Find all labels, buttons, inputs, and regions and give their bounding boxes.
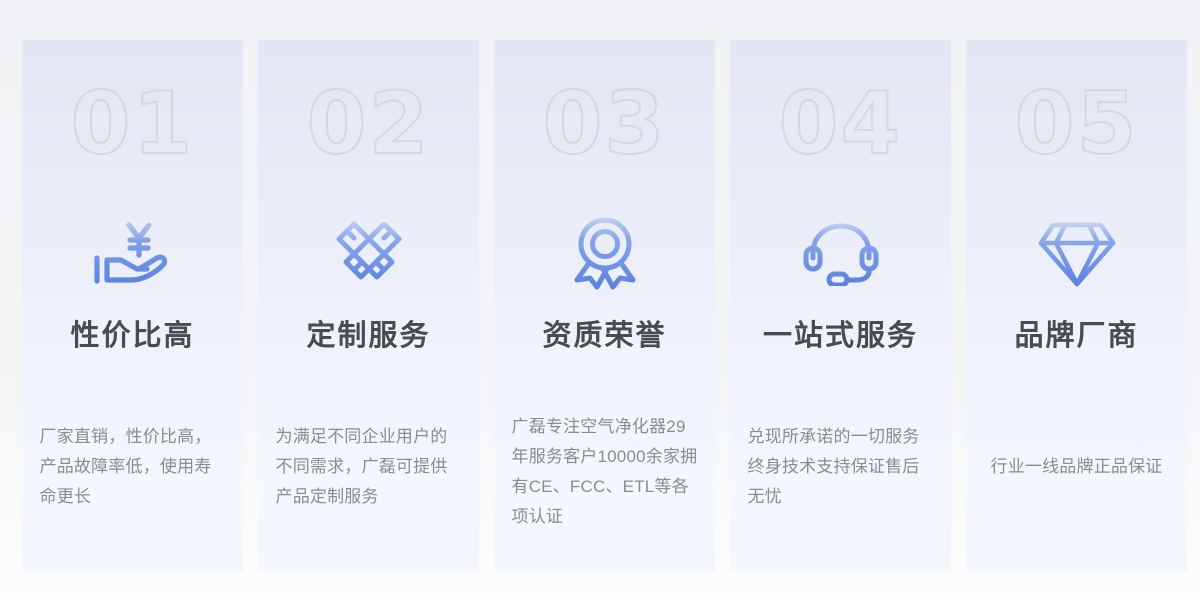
card-title: 一站式服务	[763, 312, 918, 354]
card-number-badge: 01	[71, 78, 195, 170]
card-title: 资质荣誉	[542, 312, 666, 354]
headset-icon	[793, 216, 889, 290]
card-title: 定制服务	[306, 312, 430, 354]
card-description: 兑现所承诺的一切服务终身技术支持保证售后无忧	[748, 422, 934, 512]
diamond-icon	[1029, 216, 1125, 290]
pencil-ruler-icon	[321, 216, 417, 290]
award-medal-icon	[557, 216, 653, 290]
feature-strip: 01	[0, 0, 1200, 600]
card-description: 广磊专注空气净化器29年服务客户10000余家拥有CE、FCC、ETL等各项认证	[512, 412, 698, 532]
card-number-badge: 02	[307, 78, 431, 170]
card-number-badge: 04	[779, 78, 903, 170]
hand-holding-yuan-icon	[85, 216, 181, 290]
card-description: 厂家直销，性价比高，产品故障率低，使用寿命更长	[40, 422, 226, 512]
card-title: 品牌厂商	[1014, 312, 1138, 354]
card-title: 性价比高	[70, 312, 194, 354]
card-description: 为满足不同企业用户的不同需求，广磊可提供产品定制服务	[276, 422, 462, 512]
feature-card-3[interactable]: 03 资质荣誉 广磊专注空气净化器29年服务客户100	[494, 40, 715, 571]
card-number-badge: 03	[543, 78, 667, 170]
card-number-badge: 05	[1015, 78, 1139, 170]
feature-card-4[interactable]: 04 一站式服务 兑现所承诺的一	[730, 40, 951, 571]
feature-card-5[interactable]: 05 品牌厂商 行业一线品牌正品保证	[966, 40, 1187, 571]
feature-card-2[interactable]: 02 定制服务	[258, 40, 479, 571]
feature-card-1[interactable]: 01	[22, 40, 243, 571]
card-description: 行业一线品牌正品保证	[977, 452, 1177, 482]
